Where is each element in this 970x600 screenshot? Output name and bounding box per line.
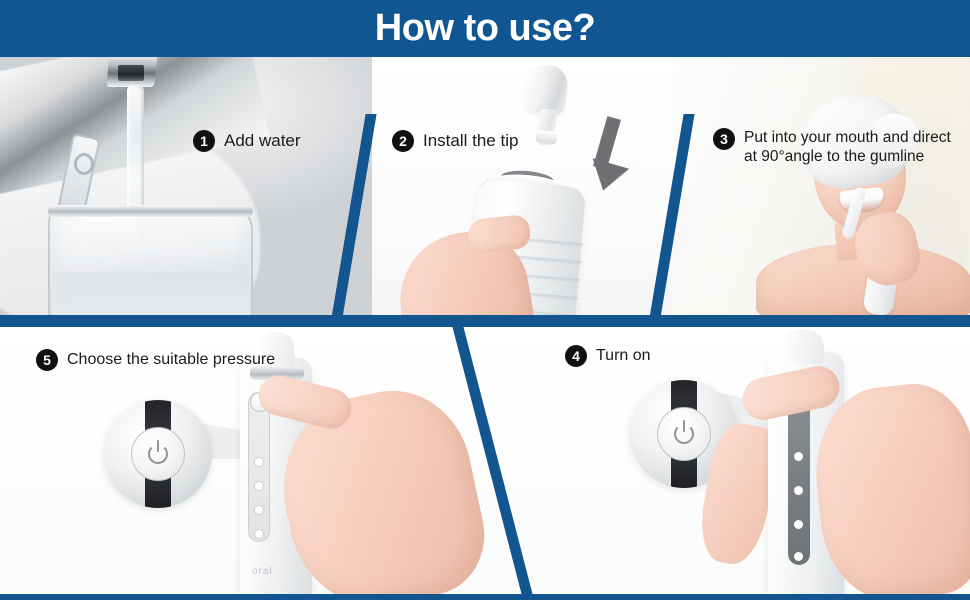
pressure-led-4: [255, 530, 263, 538]
step-label-4: Turn on: [596, 345, 651, 366]
step-badge-3: 3: [713, 128, 735, 150]
pressure-led-1: [255, 458, 263, 466]
flosser-nozzle-turn-on: [782, 330, 824, 364]
step-badge-4: 4: [565, 345, 587, 367]
step-caption-2: 2 Install the tip: [392, 130, 518, 152]
sink-scene-image: [0, 57, 372, 315]
pressure-button-magnifier: [104, 400, 212, 508]
power-led-3: [794, 520, 803, 529]
row-divider: [0, 315, 970, 327]
step-panel-install-tip: [372, 57, 672, 315]
how-to-use-infographic: How to use?: [0, 0, 970, 600]
power-icon: [674, 424, 694, 444]
magnified-power-button: [131, 427, 185, 481]
pressure-led-2: [255, 482, 263, 490]
step-badge-2: 2: [392, 130, 414, 152]
reservoir-water-level: [52, 273, 249, 315]
step-label-5: Choose the suitable pressure: [67, 349, 275, 370]
top-row: 1 Add water 2 Install the tip 3 Put into…: [0, 57, 970, 315]
power-icon: [148, 444, 168, 464]
device-brand-mark: oral: [252, 566, 300, 579]
step-panel-add-water: [0, 57, 372, 315]
power-led-4: [794, 552, 803, 561]
step-label-2: Install the tip: [423, 130, 518, 152]
step-label-1: Add water: [224, 130, 301, 152]
step-badge-5: 5: [36, 349, 58, 371]
reservoir-rim: [48, 205, 253, 217]
step-caption-4: 4 Turn on: [565, 345, 651, 367]
step-caption-1: 1 Add water: [193, 130, 301, 152]
magnified-power-button-2: [657, 407, 711, 461]
power-led-strip: [788, 390, 810, 565]
power-led-1: [794, 452, 803, 461]
pressure-led-strip: [248, 392, 270, 542]
faucet-lever: [118, 65, 144, 81]
step-badge-1: 1: [193, 130, 215, 152]
step-caption-3: 3 Put into your mouth and direct at 90°a…: [713, 128, 951, 167]
power-led-2: [794, 486, 803, 495]
flosser-handle-ring: [74, 153, 94, 175]
page-title: How to use?: [375, 9, 595, 49]
bottom-border: [0, 594, 970, 600]
step-caption-5: 5 Choose the suitable pressure: [36, 349, 275, 371]
pressure-led-3: [255, 506, 263, 514]
header-banner: How to use?: [0, 0, 970, 57]
step-label-3: Put into your mouth and direct at 90°ang…: [744, 128, 951, 167]
step-panel-put-into-mouth: [672, 57, 970, 315]
